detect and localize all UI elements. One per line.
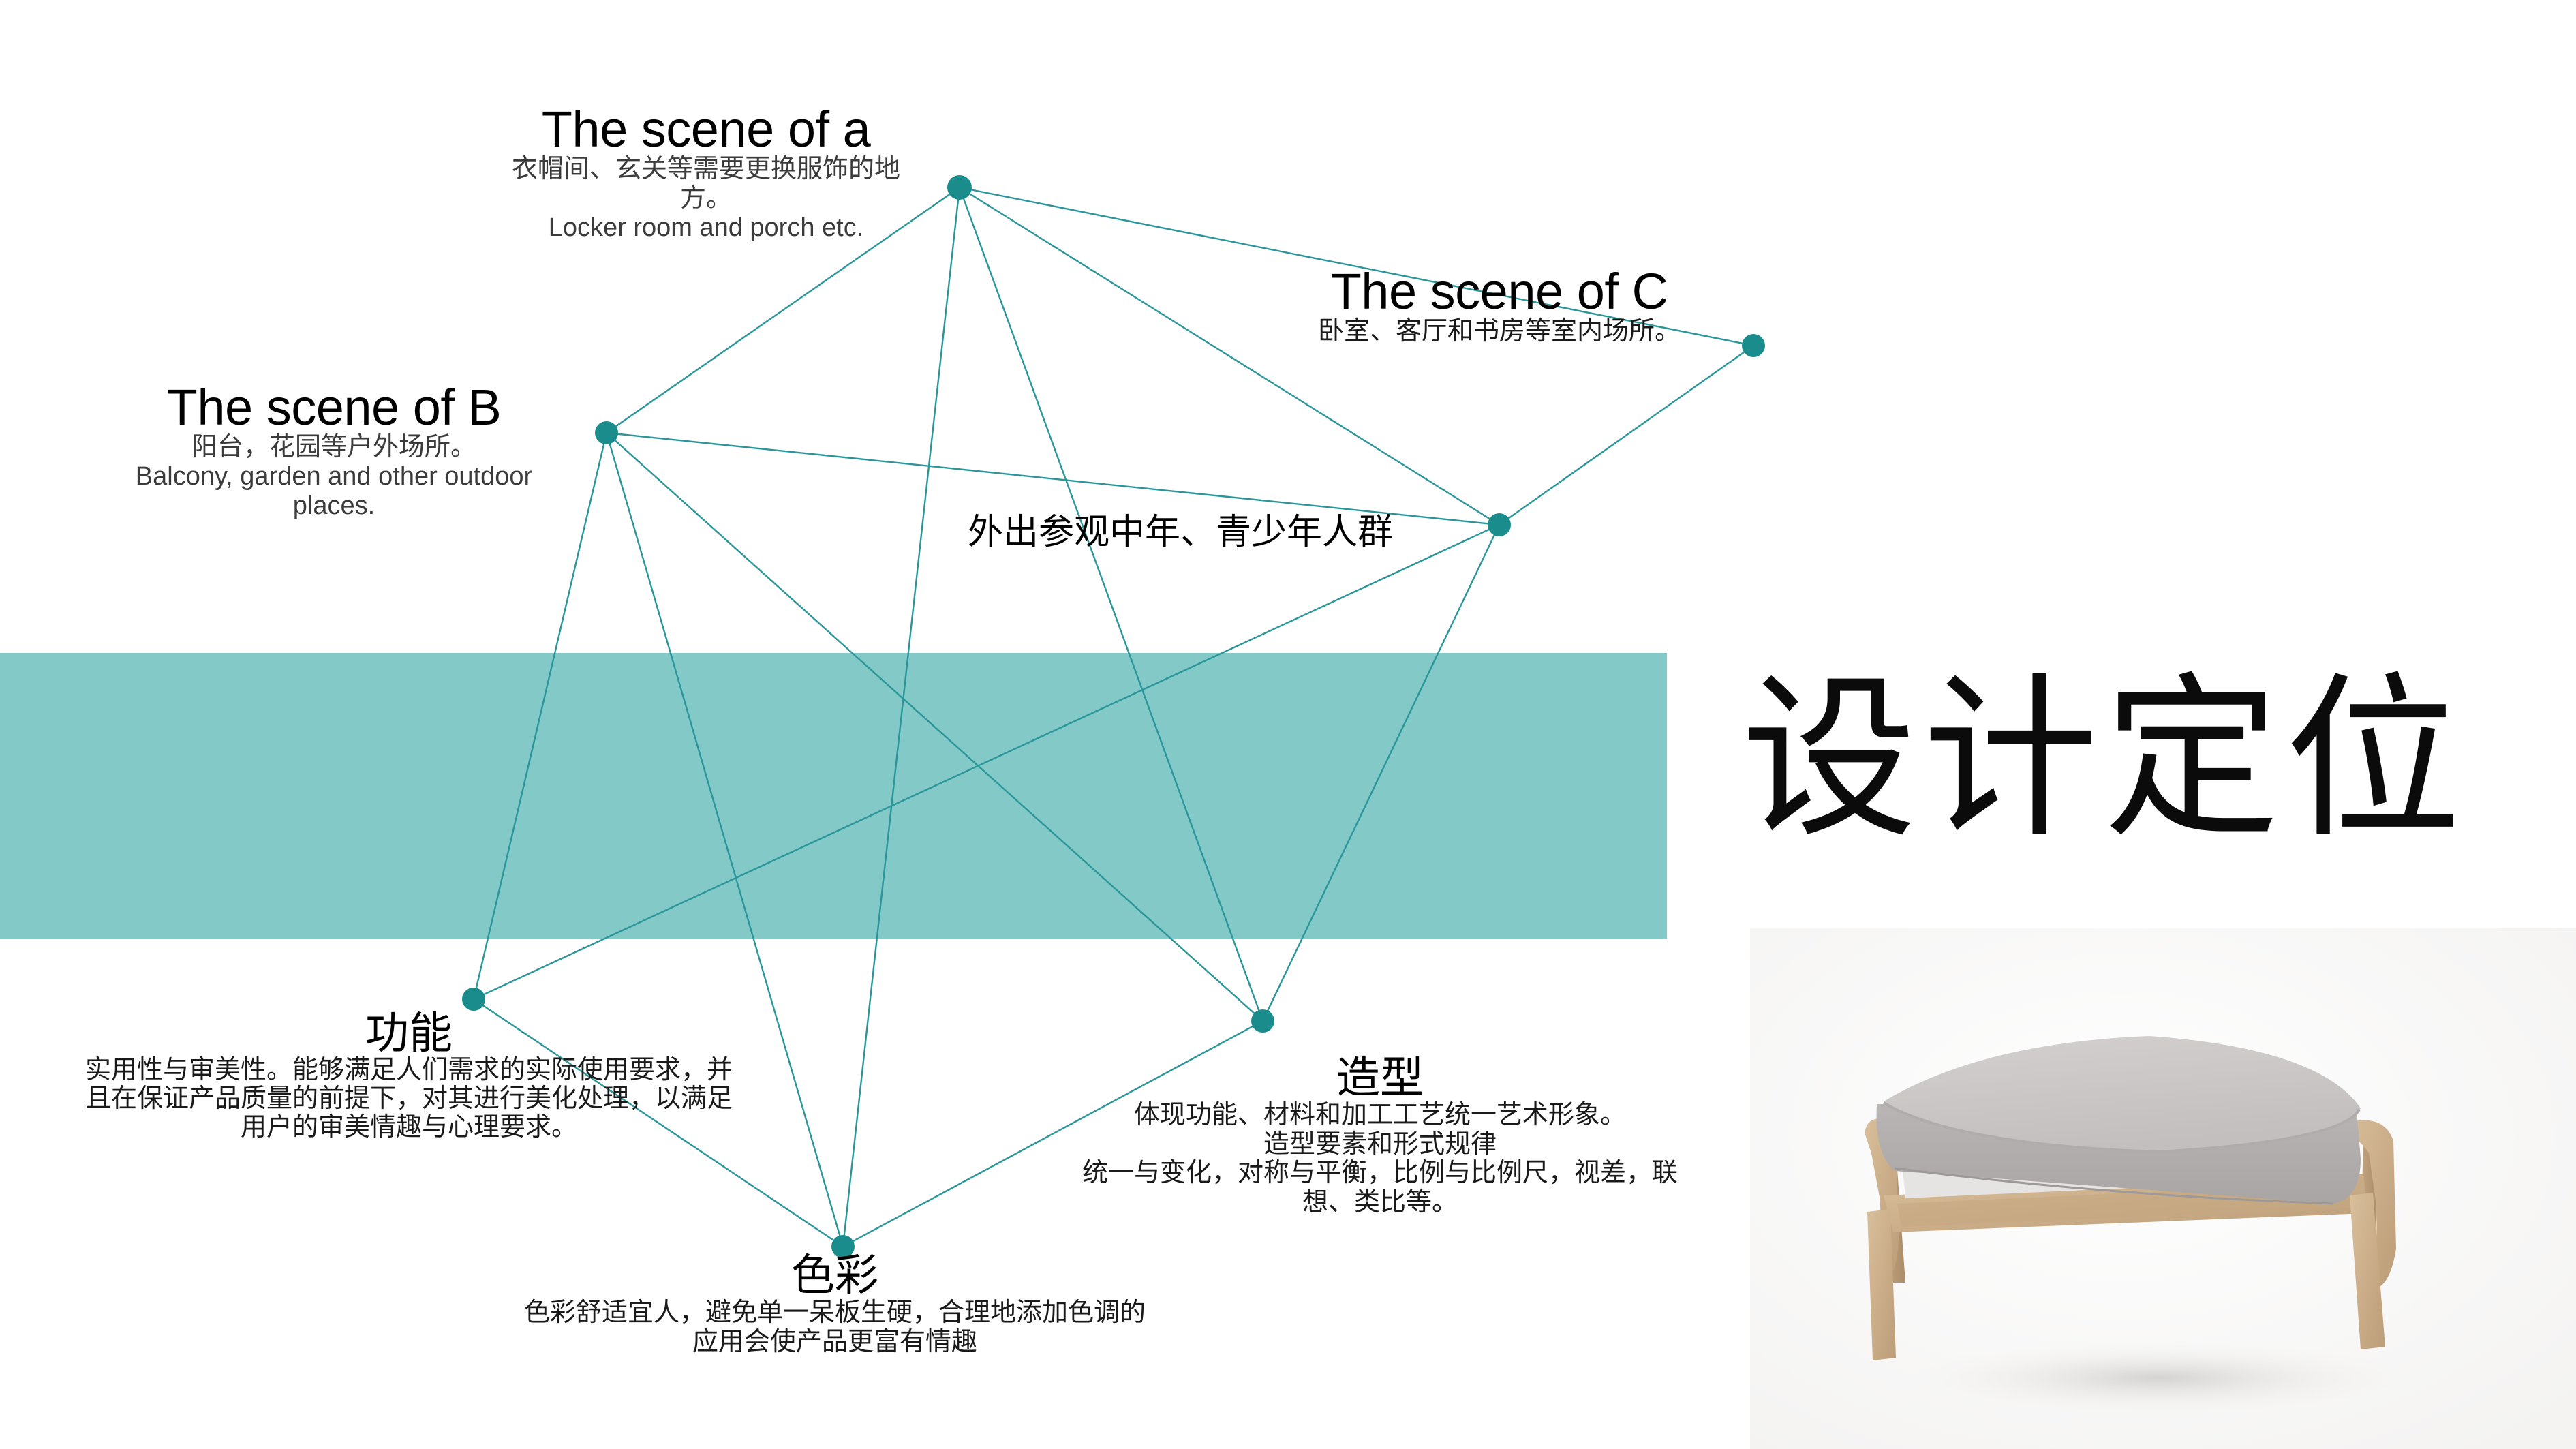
network-edge-scene-a-to-demographic <box>960 187 1499 525</box>
scene-a-block: The scene of a 衣帽间、玄关等需要更换服饰的地方。 Locker … <box>495 104 917 242</box>
floor-shadow <box>1873 1336 2445 1420</box>
network-node-scene-b[interactable] <box>595 421 618 444</box>
network-edge-scene-c-to-demographic <box>1499 346 1753 525</box>
form-body-line3: 统一与变化，对称与平衡，比例与比例尺，视差，联想、类比等。 <box>1073 1159 1687 1217</box>
scene-c-block: The scene of C 卧室、客厅和书房等室内场所。 <box>1199 266 1799 346</box>
scene-c-sub-cn: 卧室、客厅和书房等室内场所。 <box>1199 317 1799 346</box>
scene-c-heading: The scene of C <box>1199 266 1799 317</box>
scene-b-sub-cn: 阳台，花园等户外场所。 <box>95 433 572 462</box>
network-node-form[interactable] <box>1251 1009 1274 1033</box>
scene-b-heading: The scene of B <box>95 382 572 433</box>
form-block: 造型 体现功能、材料和加工工艺统一艺术形象。 造型要素和形式规律 统一与变化，对… <box>1073 1055 1687 1217</box>
form-body-line2: 造型要素和形式规律 <box>1073 1130 1687 1159</box>
demographic-label: 外出参观中年、青少年人群 <box>968 503 1393 554</box>
color-block: 色彩 色彩舒适宜人，避免单一呆板生硬，合理地添加色调的应用会使产品更富有情趣 <box>518 1253 1152 1356</box>
form-heading: 造型 <box>1073 1055 1687 1101</box>
form-body-line1: 体现功能、材料和加工工艺统一艺术形象。 <box>1073 1101 1687 1130</box>
scene-b-sub-en: Balcony, garden and other outdoor places… <box>95 462 572 520</box>
network-node-demographic[interactable] <box>1488 513 1511 536</box>
function-block: 功能 实用性与审美性。能够满足人们需求的实际使用要求，并且在保证产品质量的前提下… <box>82 1011 736 1142</box>
function-heading: 功能 <box>82 1011 736 1056</box>
scene-a-sub-en: Locker room and porch etc. <box>495 213 917 243</box>
demographic-label-block: 外出参观中年、青少年人群 <box>968 503 1393 554</box>
network-node-function[interactable] <box>462 988 485 1011</box>
accent-band <box>0 653 1667 939</box>
color-body: 色彩舒适宜人，避免单一呆板生硬，合理地添加色调的应用会使产品更富有情趣 <box>518 1298 1152 1356</box>
scene-b-block: The scene of B 阳台，花园等户外场所。 Balcony, gard… <box>95 382 572 520</box>
color-heading: 色彩 <box>518 1253 1152 1298</box>
function-body: 实用性与审美性。能够满足人们需求的实际使用要求，并且在保证产品质量的前提下，对其… <box>82 1056 736 1142</box>
scene-a-heading: The scene of a <box>495 104 917 155</box>
slide-canvas: The scene of a 衣帽间、玄关等需要更换服饰的地方。 Locker … <box>0 0 2576 1449</box>
network-node-scene-a[interactable] <box>947 175 972 200</box>
slide-title: 设计定位 <box>1741 671 2466 847</box>
scene-a-sub-cn: 衣帽间、玄关等需要更换服饰的地方。 <box>495 155 917 213</box>
ottoman-illustration <box>1750 928 2576 1449</box>
product-photo <box>1750 928 2576 1449</box>
